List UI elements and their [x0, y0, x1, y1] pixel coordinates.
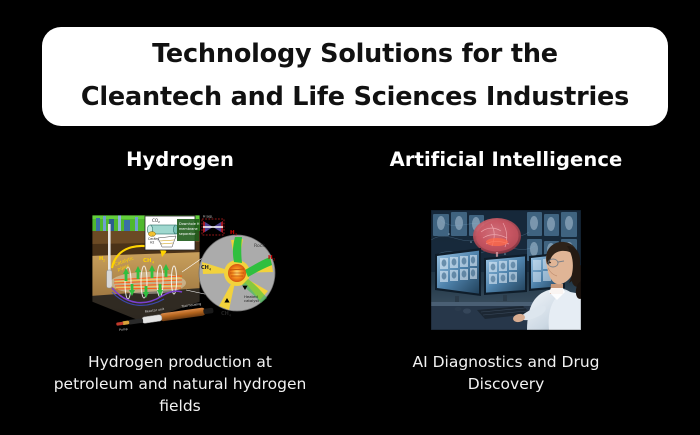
svg-text:4: 4 [229, 313, 231, 317]
caption-artificial-intelligence: AI Diagnostics and Drug Discovery [396, 351, 616, 396]
membrane-detail-marker: H sep. [202, 214, 224, 234]
ai-image-container [431, 210, 581, 335]
svg-text:2: 2 [273, 256, 276, 261]
svg-text:H2: H2 [150, 240, 154, 244]
svg-text:separator: separator [179, 232, 196, 236]
svg-text:Downhole H: Downhole H [179, 222, 200, 226]
ai-medical-diagnostics-photo [431, 210, 581, 330]
page-title-line-1: Technology Solutions for the [152, 41, 558, 68]
svg-text:2: 2 [158, 220, 160, 224]
column-heading-hydrogen: Hydrogen [126, 150, 234, 170]
pore-scale-inset: H 2 H 2 Rock CH 4 CH 4 Heated catalyst [199, 230, 276, 318]
hydrogen-image-container: Catalytic pipes CH 4 H 2 CO 2 [82, 210, 278, 335]
svg-text:2: 2 [103, 258, 105, 262]
downhole-separator-inset: CO 2 Ceramic H2 Downhole H [145, 216, 200, 250]
svg-text:CH: CH [201, 265, 209, 271]
column-hydrogen: Hydrogen [30, 150, 330, 418]
svg-text:H sep.: H sep. [203, 214, 213, 218]
svg-text:CH: CH [221, 311, 229, 317]
svg-text:Pump: Pump [119, 326, 128, 331]
svg-text:catalyst: catalyst [244, 298, 260, 303]
svg-text:membrane: membrane [179, 227, 198, 231]
svg-text:Rock: Rock [254, 243, 265, 249]
slide-canvas: Technology Solutions for the Cleantech a… [0, 0, 700, 435]
svg-text:CH: CH [143, 258, 152, 264]
column-heading-artificial-intelligence: Artificial Intelligence [390, 150, 623, 170]
hydrogen-subsurface-diagram: Catalytic pipes CH 4 H 2 CO 2 [82, 210, 278, 335]
title-card: Technology Solutions for the Cleantech a… [42, 27, 668, 126]
column-artificial-intelligence: Artificial Intelligence [356, 150, 656, 395]
page-title-line-2: Cleantech and Life Sciences Industries [81, 84, 629, 111]
svg-text:4: 4 [209, 267, 211, 271]
caption-hydrogen: Hydrogen production at petroleum and nat… [50, 351, 310, 418]
